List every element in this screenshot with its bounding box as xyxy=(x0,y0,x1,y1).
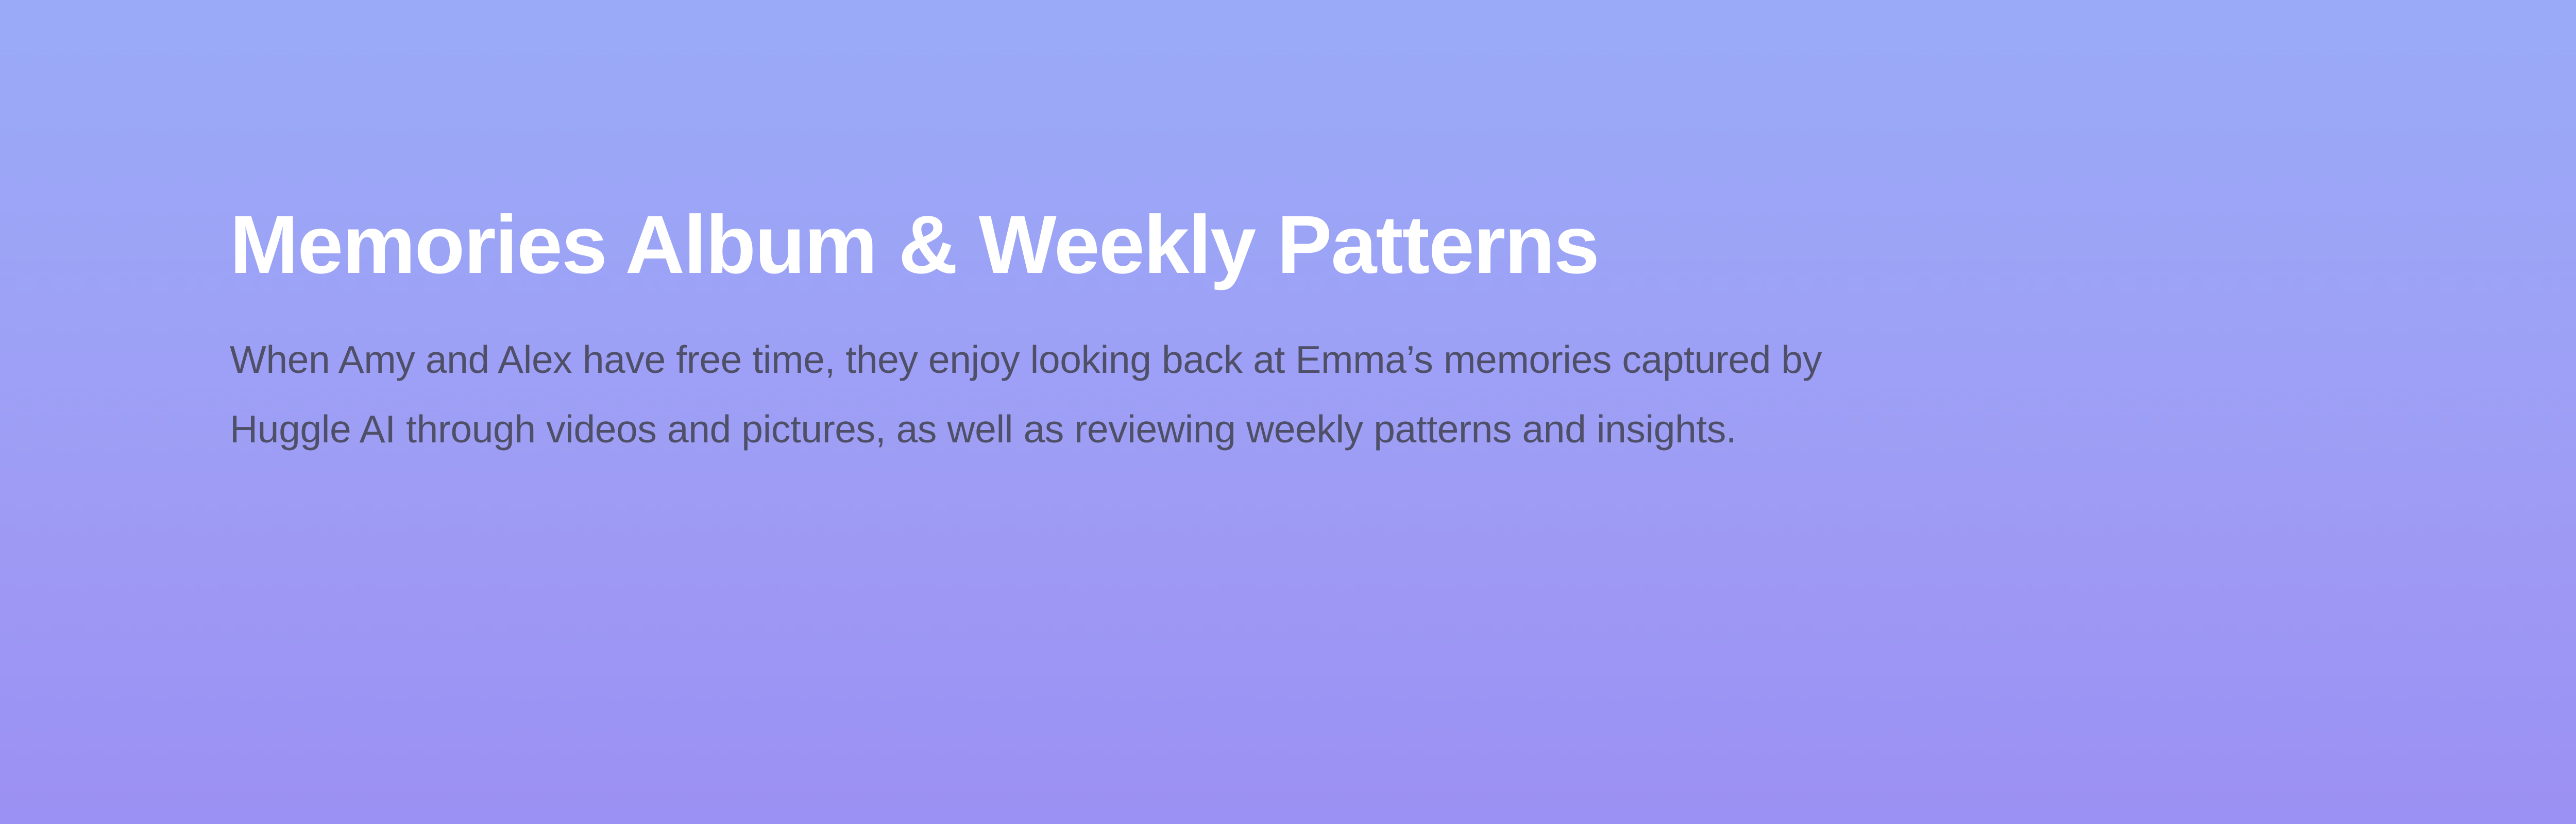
hero-content-block: Memories Album & Weekly Patterns When Am… xyxy=(230,203,2239,464)
page-description: When Amy and Alex have free time, they e… xyxy=(230,286,1945,464)
page-title: Memories Album & Weekly Patterns xyxy=(230,203,2239,286)
memories-hero-banner: Memories Album & Weekly Patterns When Am… xyxy=(0,0,2576,824)
